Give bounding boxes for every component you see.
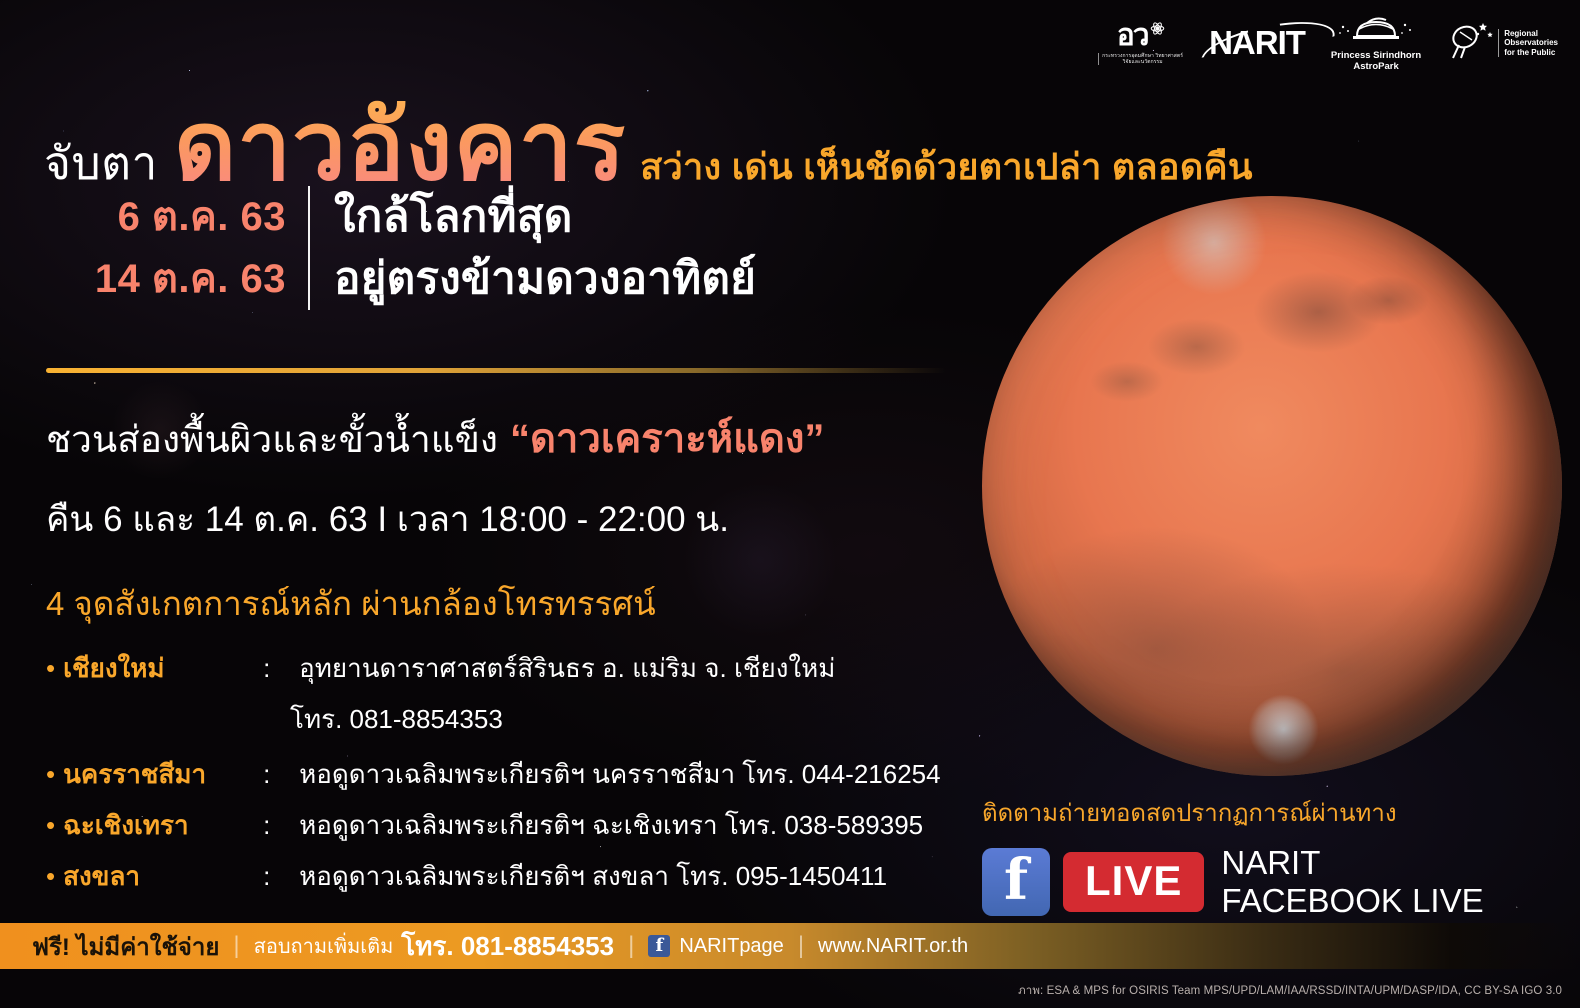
date-2: 14 ต.ค. 63 [58, 248, 286, 310]
mhesi-mark: อว [1117, 21, 1165, 51]
live-caption: ติดตามถ่ายทอดสดปรากฏการณ์ผ่านทาง [982, 793, 1580, 832]
contact-label: สอบถามเพิ่มเติม [254, 930, 394, 962]
site-value: อุทยานดาราศาสตร์สิรินธร อ. แม่ริม จ. เชี… [299, 648, 835, 689]
date-1: 6 ต.ค. 63 [58, 186, 286, 248]
facebook-icon-small[interactable]: f [648, 935, 670, 957]
date-desc-2: อยู่ตรงข้ามดวงอาทิตย์ [334, 248, 756, 310]
date-desc-1: ใกล้โลกที่สุด [334, 186, 756, 248]
site-colon: : [263, 810, 299, 841]
site-colon: : [263, 759, 299, 790]
bullet-icon: • [46, 655, 55, 681]
live-channel-line2: FACEBOOK LIVE [1221, 882, 1483, 919]
site-phone: โทร. 081-8854353 [290, 699, 946, 740]
site-name: นครราชสีมา [63, 754, 263, 795]
regional-observatories-logo: Regional Observatories for the Public [1447, 20, 1558, 67]
site-colon: : [263, 861, 299, 892]
mhesi-glyph-icon: อว [1117, 21, 1148, 51]
mars-planet-image [982, 196, 1562, 776]
footer-separator-3: | [798, 932, 804, 960]
site-value: หอดูดาวเฉลิมพระเกียรติฯ นครราชสีมา โทร. … [299, 754, 940, 795]
mars-terminator-shadow [982, 196, 1562, 776]
live-channel-name: NARIT FACEBOOK LIVE [1221, 844, 1483, 920]
atom-icon [1150, 21, 1165, 41]
sites-list: • เชียงใหม่ : อุทยานดาราศาสตร์สิรินธร อ.… [46, 648, 946, 907]
footer-content: ฟรี! ไม่มีค่าใช้จ่าย | สอบถามเพิ่มเติม โ… [0, 926, 968, 967]
narit-logo: NARIT [1209, 24, 1305, 62]
event-time-line: คืน 6 และ 14 ต.ค. 63 I เวลา 18:00 - 22:0… [46, 492, 946, 547]
free-label: ฟรี! ไม่มีค่าใช้จ่าย [32, 927, 219, 966]
site-value: หอดูดาวเฉลิมพระเกียรติฯ ฉะเชิงเทรา โทร. … [299, 805, 923, 846]
site-value: หอดูดาวเฉลิมพระเกียรติฯ สงขลา โทร. 095-1… [299, 856, 887, 897]
observatory-dome-icon [1337, 14, 1415, 49]
footer-separator-2: | [628, 932, 634, 960]
site-name: ฉะเชิงเทรา [63, 805, 263, 846]
site-name: เชียงใหม่ [63, 648, 263, 689]
red-planet-label: “ดาวเคราะห์แดง” [510, 406, 824, 470]
mhesi-subtitle: กระทรวงการอุดมศึกษา วิทยาศาสตร์ วิจัยและ… [1098, 53, 1183, 65]
image-credit: ภาพ: ESA & MPS for OSIRIS Team MPS/UPD/L… [1018, 982, 1562, 1000]
list-item: • สงขลา : หอดูดาวเฉลิมพระเกียรติฯ สงขลา … [46, 856, 946, 897]
body-content: ชวนส่องพื้นผิวและขั้วน้ำแข็ง “ดาวเคราะห์… [46, 406, 946, 907]
live-badge: LIVE [1063, 852, 1204, 912]
sites-heading: 4 จุดสังเกตการณ์หลัก ผ่านกล้องโทรทรรศน์ [46, 577, 946, 630]
list-item: • ฉะเชิงเทรา : หอดูดาวเฉลิมพระเกียรติฯ ฉ… [46, 805, 946, 846]
rop-line2: Observatories [1504, 38, 1558, 48]
site-colon: : [263, 653, 299, 684]
bullet-icon: • [46, 812, 55, 838]
poster-canvas: อว กระทรวงการอุดมศึกษา วิทยาศาสตร์ วิจัย… [0, 0, 1580, 1008]
list-item: • นครราชสีมา : หอดูดาวเฉลิมพระเกียรติฯ น… [46, 754, 946, 795]
logo-bar: อว กระทรวงการอุดมศึกษา วิทยาศาสตร์ วิจัย… [1098, 14, 1558, 72]
footer-separator-1: | [233, 932, 239, 960]
live-row: f LIVE NARIT FACEBOOK LIVE [982, 844, 1580, 920]
mhesi-logo: อว กระทรวงการอุดมศึกษา วิทยาศาสตร์ วิจัย… [1098, 21, 1183, 65]
astropark-name: Princess Sirindhorn AstroPark [1331, 50, 1421, 72]
rop-line3: for the Public [1504, 48, 1558, 58]
site-name: สงขลา [63, 856, 263, 897]
gold-divider-rule [46, 368, 946, 373]
list-item: • เชียงใหม่ : อุทยานดาราศาสตร์สิรินธร อ.… [46, 648, 946, 689]
invite-text: ชวนส่องพื้นผิวและขั้วน้ำแข็ง [46, 410, 498, 469]
date-column: 6 ต.ค. 63 14 ต.ค. 63 [58, 186, 308, 310]
mhesi-subtitle-line2: วิจัยและนวัตกรรม [1102, 59, 1183, 65]
astropark-logo: Princess Sirindhorn AstroPark [1331, 14, 1421, 72]
live-channel-line1: NARIT [1221, 844, 1320, 881]
telescope-icon [1447, 20, 1493, 67]
date-block: 6 ต.ค. 63 14 ต.ค. 63 ใกล้โลกที่สุด อยู่ต… [58, 186, 756, 310]
facebook-icon[interactable]: f [982, 848, 1050, 916]
footer-bar: ฟรี! ไม่มีค่าใช้จ่าย | สอบถามเพิ่มเติม โ… [0, 923, 1580, 969]
website-url[interactable]: www.NARIT.or.th [818, 935, 968, 958]
live-broadcast-block: ติดตามถ่ายทอดสดปรากฏการณ์ผ่านทาง f LIVE … [982, 793, 1580, 920]
invite-line: ชวนส่องพื้นผิวและขั้วน้ำแข็ง “ดาวเคราะห์… [46, 406, 946, 470]
astropark-line2: AstroPark [1331, 61, 1421, 72]
narit-wordmark: NARIT [1209, 24, 1305, 62]
bullet-icon: • [46, 863, 55, 889]
contact-phone: โทร. 081-8854353 [401, 926, 614, 967]
astropark-line1: Princess Sirindhorn [1331, 50, 1421, 61]
rop-line1: Regional [1504, 29, 1558, 39]
regional-observatories-name: Regional Observatories for the Public [1498, 29, 1558, 58]
facebook-page-name[interactable]: NARITpage [679, 935, 784, 958]
bullet-icon: • [46, 761, 55, 787]
date-description-column: ใกล้โลกที่สุด อยู่ตรงข้ามดวงอาทิตย์ [310, 186, 756, 310]
